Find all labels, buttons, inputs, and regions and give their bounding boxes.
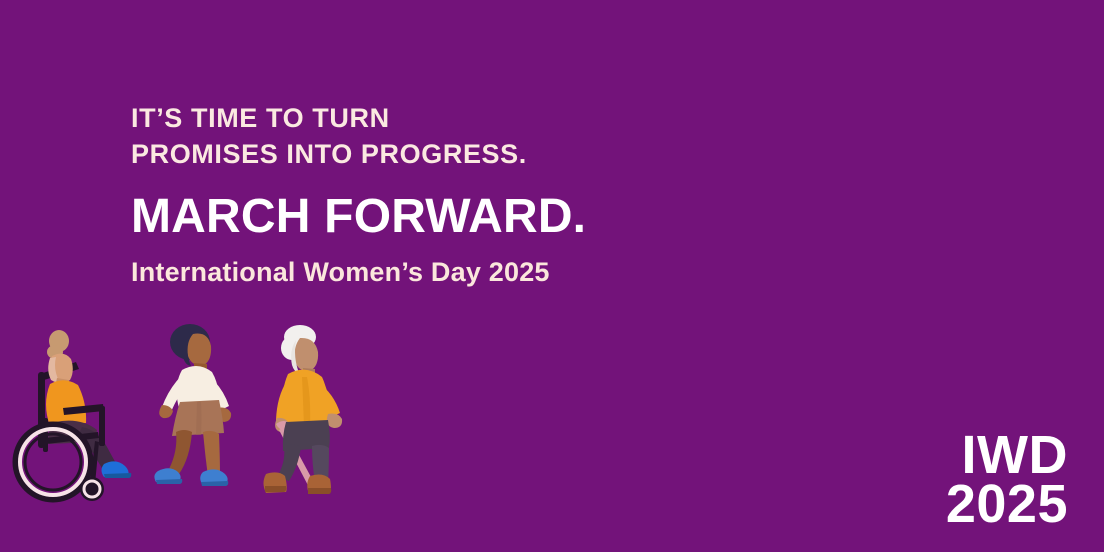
kicker-line-1: IT’S TIME TO TURN: [131, 101, 771, 137]
iwd-logo-line-2: 2025: [946, 480, 1068, 530]
head: [188, 334, 212, 366]
head: [295, 338, 319, 371]
figure-woman-with-cane: [264, 325, 343, 494]
headline-block: IT’S TIME TO TURN PROMISES INTO PROGRESS…: [131, 101, 771, 288]
front-hand: [327, 414, 342, 428]
iwd-logo-line-1: IWD: [946, 431, 1068, 481]
back-leg: [169, 430, 192, 474]
event-subtitle: International Women’s Day 2025: [131, 256, 771, 288]
main-headline: MARCH FORWARD.: [131, 190, 771, 244]
iwd-2025-banner: IT’S TIME TO TURN PROMISES INTO PROGRESS…: [0, 0, 1104, 552]
iwd-logo: IWD 2025: [946, 431, 1068, 530]
illustration-three-women: [0, 322, 420, 552]
kicker-line-2: PROMISES INTO PROGRESS.: [131, 137, 771, 173]
figure-woman-in-wheelchair: [16, 330, 131, 501]
figure-woman-walking: [154, 324, 231, 486]
